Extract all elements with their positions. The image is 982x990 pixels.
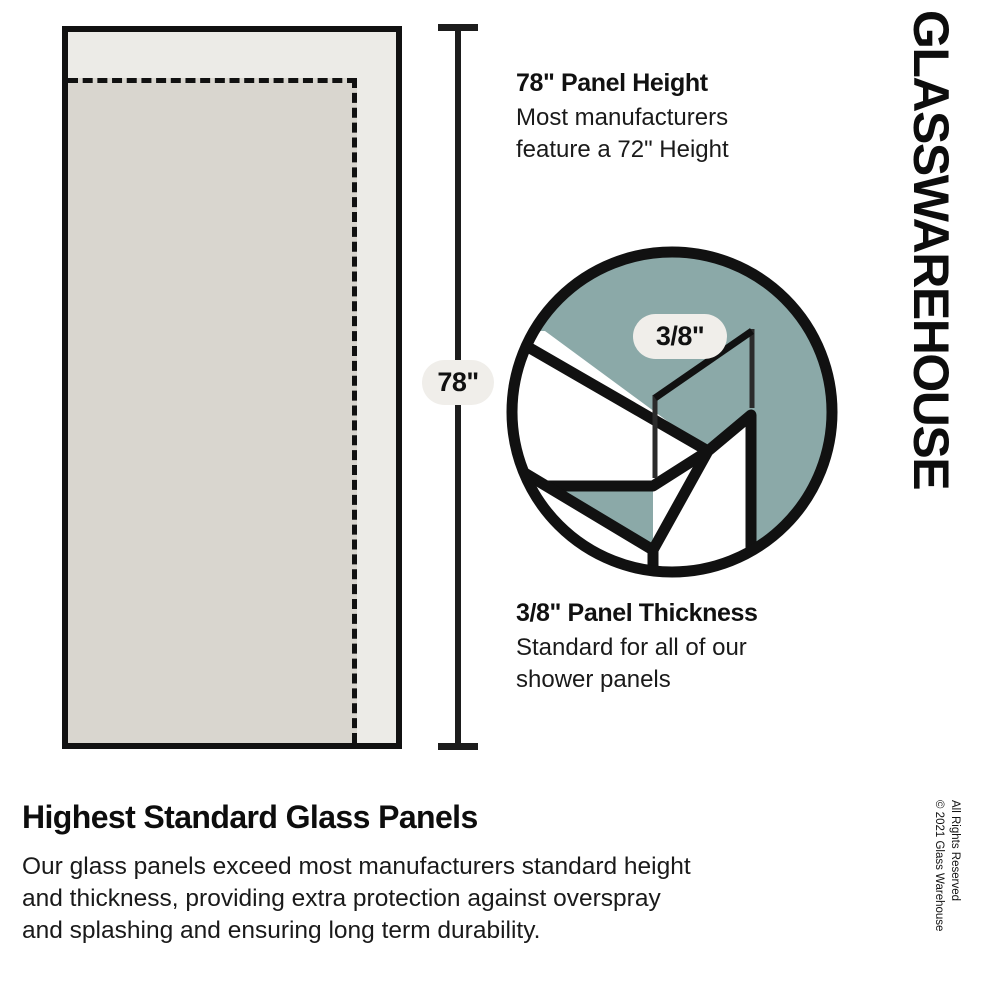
bottom-paragraph: Our glass panels exceed most manufacture… xyxy=(22,851,882,947)
thickness-callout-body-line-1: Standard for all of our xyxy=(516,632,876,664)
thickness-callout-block: 3/8" Panel Thickness Standard for all of… xyxy=(516,598,876,695)
bottom-paragraph-line-1: Our glass panels exceed most manufacture… xyxy=(22,853,691,880)
copyright-line-2: All Rights Reserved xyxy=(949,800,961,901)
height-dimension-label: 78" xyxy=(422,360,494,405)
bottom-text-block: Highest Standard Glass Panels Our glass … xyxy=(22,800,882,947)
height-callout-title: 78" Panel Height xyxy=(516,68,856,99)
brand-wordmark: GLASSWAREHOUSE xyxy=(899,10,967,590)
dimension-cap-top-icon xyxy=(438,24,478,31)
dimension-cap-bottom-icon xyxy=(438,743,478,750)
bottom-paragraph-line-2: and thickness, providing extra protectio… xyxy=(22,885,661,912)
bottom-paragraph-line-3: and splashing and ensuring long term dur… xyxy=(22,917,540,944)
bottom-heading: Highest Standard Glass Panels xyxy=(22,800,882,835)
brand-wordmark-text: GLASSWAREHOUSE xyxy=(906,10,956,489)
copyright-notice: © 2021 Glass Warehouse All Rights Reserv… xyxy=(928,800,972,970)
glass-panel-diagram xyxy=(62,26,402,749)
height-callout-body-line-1: Most manufacturers xyxy=(516,102,856,134)
panel-dashed-left-edge-svg xyxy=(62,26,402,749)
thickness-callout-title: 3/8" Panel Thickness xyxy=(516,598,876,629)
height-callout-body-line-2: feature a 72" Height xyxy=(516,134,856,166)
thickness-callout-body-line-2: shower panels xyxy=(516,664,876,696)
height-callout-block: 78" Panel Height Most manufacturers feat… xyxy=(516,68,856,165)
thickness-dimension-label: 3/8" xyxy=(633,314,727,359)
panel-thickness-illustration xyxy=(503,243,841,581)
copyright-line-1: © 2021 Glass Warehouse xyxy=(933,800,945,931)
